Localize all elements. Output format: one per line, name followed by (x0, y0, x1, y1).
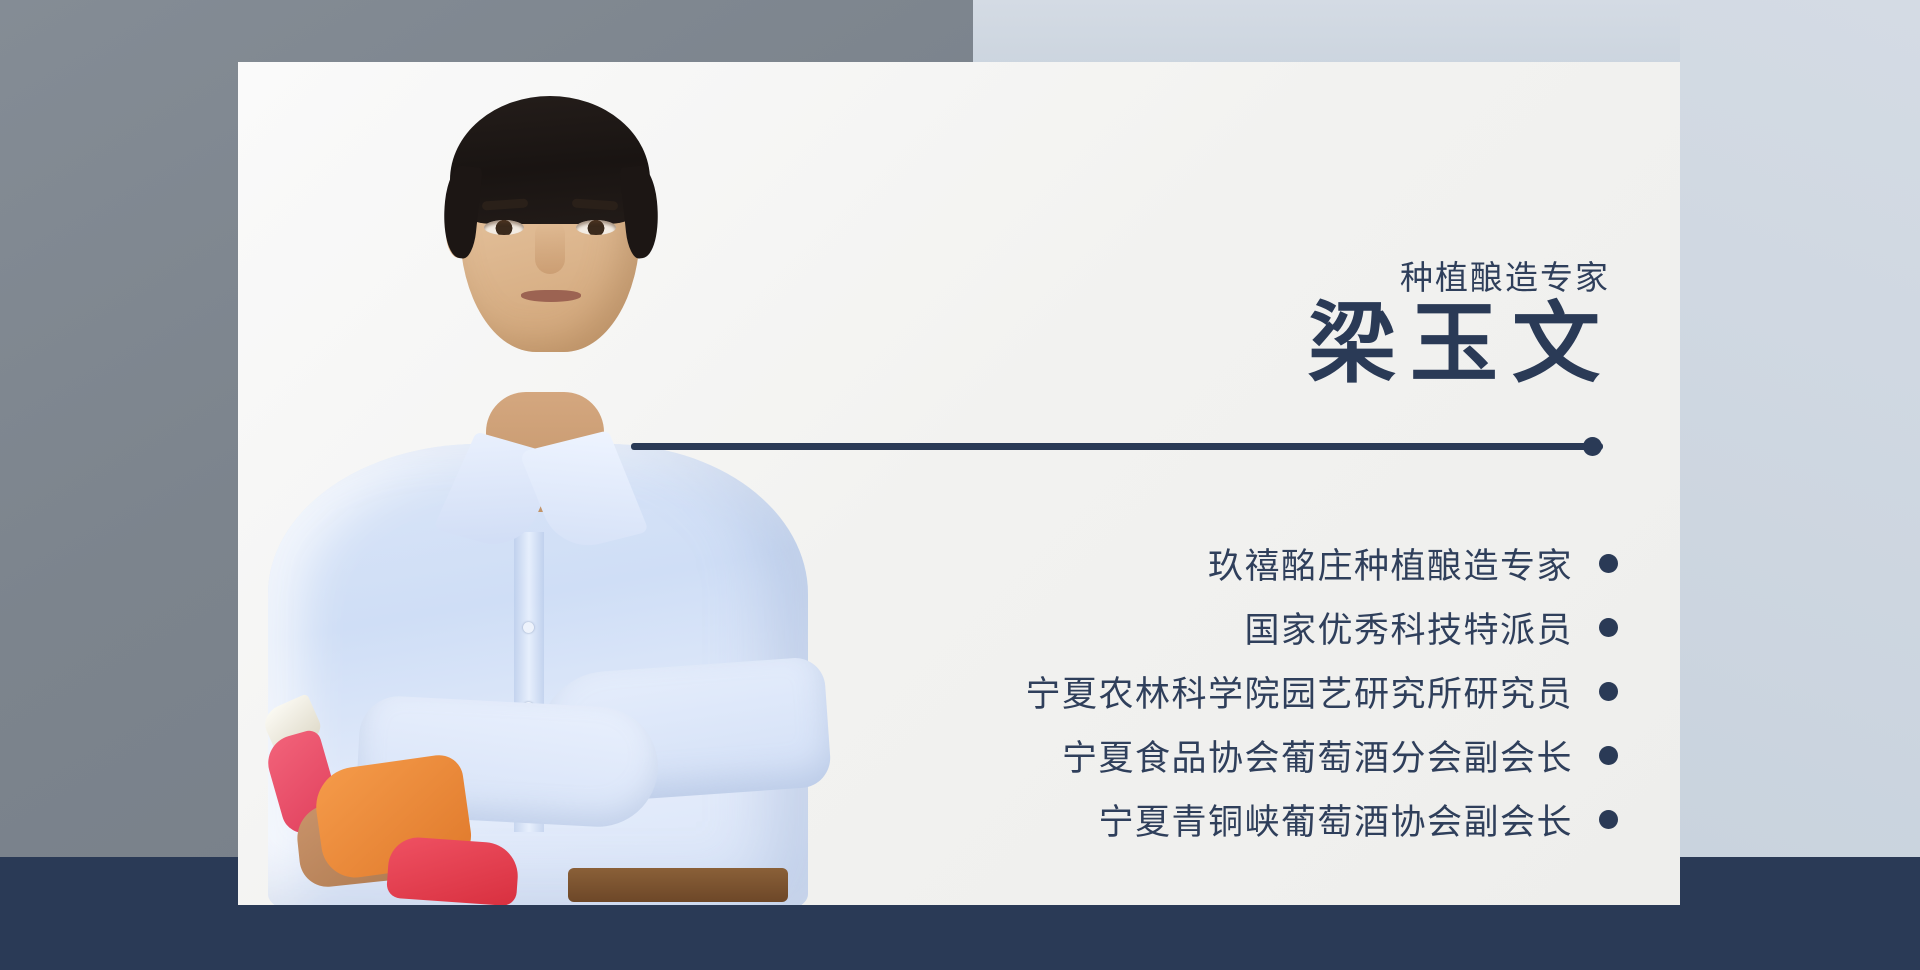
dot-bullet-icon (1599, 746, 1618, 765)
background-blue-right-panel (1680, 0, 1920, 857)
divider-line (631, 443, 1603, 450)
portrait-eye-left (484, 220, 524, 235)
credentials-list: 玖禧酩庄种植酿造专家 国家优秀科技特派员 宁夏农林科学院园艺研究所研究员 宁夏食… (718, 540, 1618, 842)
profile-card: 种植酿造专家 梁玉文 玖禧酩庄种植酿造专家 国家优秀科技特派员 宁夏农林科学院园… (238, 62, 1680, 905)
dot-bullet-icon (1599, 810, 1618, 829)
portrait-mouth (521, 290, 581, 302)
credential-label: 玖禧酩庄种植酿造专家 (1208, 538, 1573, 589)
dot-bullet-icon (1599, 618, 1618, 637)
portrait-nose (535, 222, 565, 274)
list-item: 宁夏青铜峡葡萄酒协会副会长 (1098, 796, 1618, 842)
portrait-shirt-button (523, 622, 534, 633)
credential-label: 宁夏青铜峡葡萄酒协会副会长 (1098, 794, 1573, 845)
credential-label: 宁夏农林科学院园艺研究所研究员 (1025, 666, 1573, 717)
expert-name: 梁玉文 (1308, 298, 1614, 395)
portrait-bottom-fade (238, 859, 858, 905)
dot-bullet-icon (1599, 554, 1618, 573)
list-item: 国家优秀科技特派员 (1244, 604, 1618, 650)
list-item: 宁夏食品协会葡萄酒分会副会长 (1062, 732, 1618, 778)
portrait-eye-right (576, 220, 616, 235)
list-item: 宁夏农林科学院园艺研究所研究员 (1025, 668, 1618, 714)
portrait-hair (450, 96, 650, 224)
list-item: 玖禧酩庄种植酿造专家 (1208, 540, 1618, 586)
expert-subtitle: 种植酿造专家 (1400, 251, 1610, 299)
divider-end-dot-icon (1583, 437, 1602, 456)
credential-label: 国家优秀科技特派员 (1244, 602, 1573, 653)
banner-stage: 种植酿造专家 梁玉文 玖禧酩庄种植酿造专家 国家优秀科技特派员 宁夏农林科学院园… (0, 0, 1920, 970)
dot-bullet-icon (1599, 682, 1618, 701)
credential-label: 宁夏食品协会葡萄酒分会副会长 (1062, 730, 1573, 781)
